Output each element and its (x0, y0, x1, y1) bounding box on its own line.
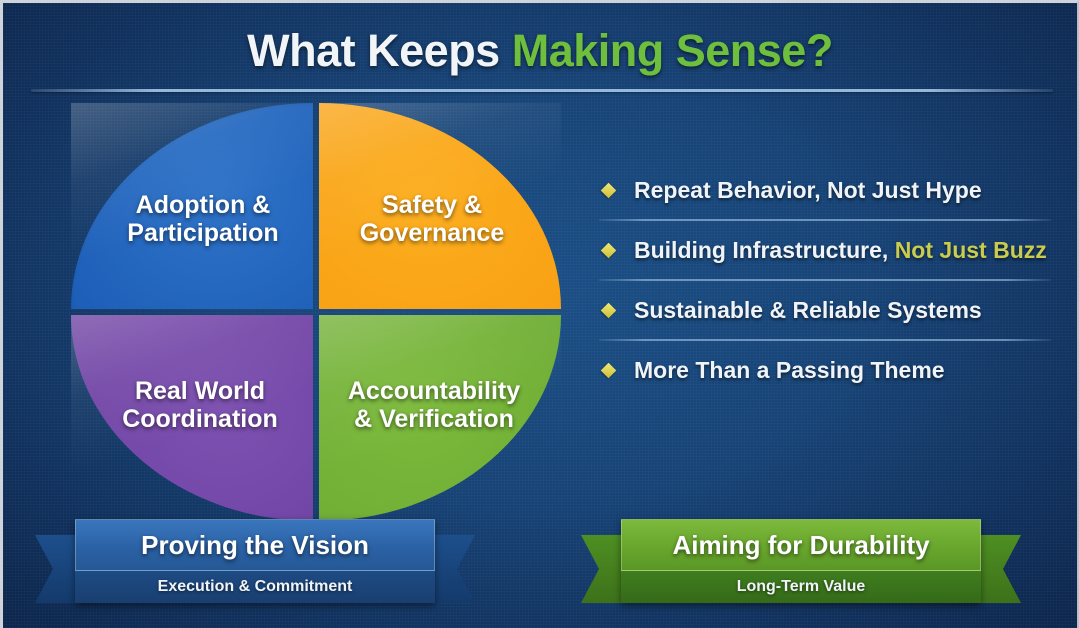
list-item[interactable]: Building Infrastructure, Not Just Buzz (595, 221, 1055, 279)
ribbon-title-band: Aiming for Durability (621, 519, 981, 571)
ribbon-title: Proving the Vision (141, 530, 369, 561)
list-item[interactable]: More Than a Passing Theme (595, 341, 1055, 399)
diamond-bullet-icon (601, 302, 617, 318)
list-item-text: Building Infrastructure, (634, 237, 895, 263)
list-item-highlight: Not Just Buzz (895, 237, 1047, 263)
ribbon-subtitle: Execution & Commitment (158, 578, 353, 596)
ribbon-band: Proving the Vision Execution & Commitmen… (75, 519, 435, 603)
title-container: What Keeps Making Sense? (3, 25, 1077, 77)
ribbon-title: Aiming for Durability (672, 530, 929, 561)
diamond-bullet-icon (601, 362, 617, 378)
quadrant-pie-chart: Adoption & Participation Safety & Govern… (71, 103, 561, 521)
infographic-slide: What Keeps Making Sense? Adoption & Part… (0, 0, 1079, 628)
ribbon-subtitle: Long-Term Value (737, 578, 866, 596)
ribbon-band: Aiming for Durability Long-Term Value (621, 519, 981, 603)
ribbon-proving-the-vision[interactable]: Proving the Vision Execution & Commitmen… (35, 519, 475, 607)
quadrant-label-line2: Coordination (122, 405, 278, 433)
quadrant-label-line1: Real World (135, 377, 265, 405)
pie-quadrant-adoption-participation[interactable]: Adoption & Participation (71, 103, 313, 309)
list-item-text: Repeat Behavior, Not Just Hype (634, 177, 982, 203)
ribbon-subtitle-band: Execution & Commitment (75, 571, 435, 603)
diamond-bullet-icon (601, 242, 617, 258)
quadrant-label-line1: Accountability (348, 377, 520, 405)
ribbon-title-band: Proving the Vision (75, 519, 435, 571)
quadrant-label-line2: & Verification (354, 405, 514, 433)
quadrant-label-line1: Adoption & (136, 191, 271, 219)
diamond-bullet-icon (601, 182, 617, 198)
quadrant-label-line2: Participation (127, 219, 278, 247)
title-divider (31, 89, 1053, 92)
pie-quadrant-real-world-coordination[interactable]: Real World Coordination (71, 315, 313, 521)
ribbon-subtitle-band: Long-Term Value (621, 571, 981, 603)
list-item-label: Building Infrastructure, Not Just Buzz (634, 237, 1047, 264)
quadrant-label: Accountability & Verification (319, 315, 561, 521)
quadrant-label: Safety & Governance (319, 103, 561, 309)
page-title: What Keeps Making Sense? (3, 25, 1077, 77)
list-item-text: Sustainable & Reliable Systems (634, 297, 982, 323)
list-item[interactable]: Repeat Behavior, Not Just Hype (595, 161, 1055, 219)
ribbon-aiming-for-durability[interactable]: Aiming for Durability Long-Term Value (581, 519, 1021, 607)
pie-quadrant-accountability-verification[interactable]: Accountability & Verification (319, 315, 561, 521)
quadrant-label-line2: Governance (360, 219, 505, 247)
list-item-label: Sustainable & Reliable Systems (634, 297, 982, 324)
quadrant-label: Adoption & Participation (71, 103, 313, 309)
list-item-label: Repeat Behavior, Not Just Hype (634, 177, 982, 204)
pie-quadrant-safety-governance[interactable]: Safety & Governance (319, 103, 561, 309)
title-part-white: What Keeps (247, 25, 500, 76)
quadrant-label: Real World Coordination (71, 315, 313, 521)
title-part-accent: Making Sense? (512, 25, 833, 76)
quadrant-label-line1: Safety & (382, 191, 482, 219)
list-item[interactable]: Sustainable & Reliable Systems (595, 281, 1055, 339)
list-item-text: More Than a Passing Theme (634, 357, 945, 383)
list-item-label: More Than a Passing Theme (634, 357, 945, 384)
bullet-list: Repeat Behavior, Not Just Hype Building … (595, 161, 1055, 399)
